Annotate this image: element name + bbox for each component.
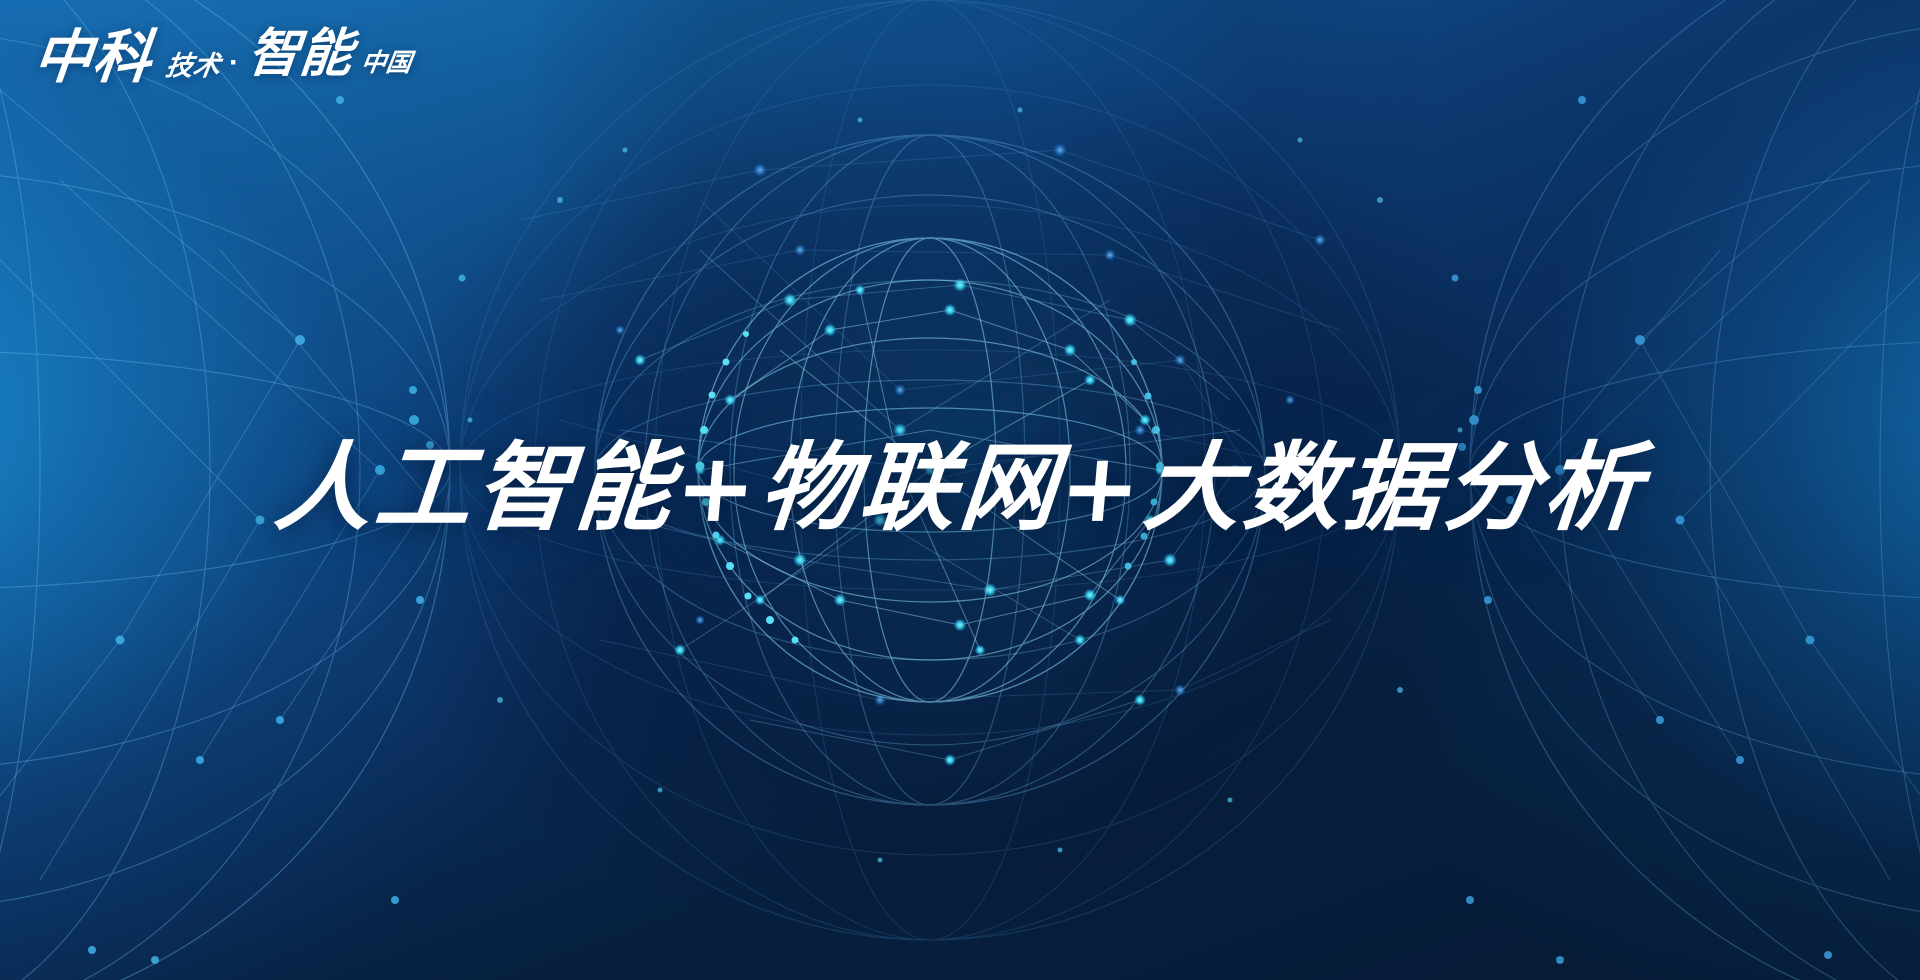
brand-logo[interactable]: 中科 技术 · 智能 中国 — [34, 28, 411, 86]
slide-canvas: 中科 技术 · 智能 中国 人工智能+物联网+大数据分析 — [0, 0, 1920, 980]
logo-separator: · — [229, 48, 239, 80]
logo-tail-text: 中国 — [359, 50, 413, 80]
logo-small-text: 技术 — [164, 53, 222, 80]
logo-sub-group: 技术 · 智能 中国 — [166, 28, 411, 86]
logo-mid-text: 智能 — [245, 28, 354, 80]
logo-main-text: 中科 — [31, 28, 155, 86]
page-title: 人工智能+物联网+大数据分析 — [0, 438, 1920, 539]
